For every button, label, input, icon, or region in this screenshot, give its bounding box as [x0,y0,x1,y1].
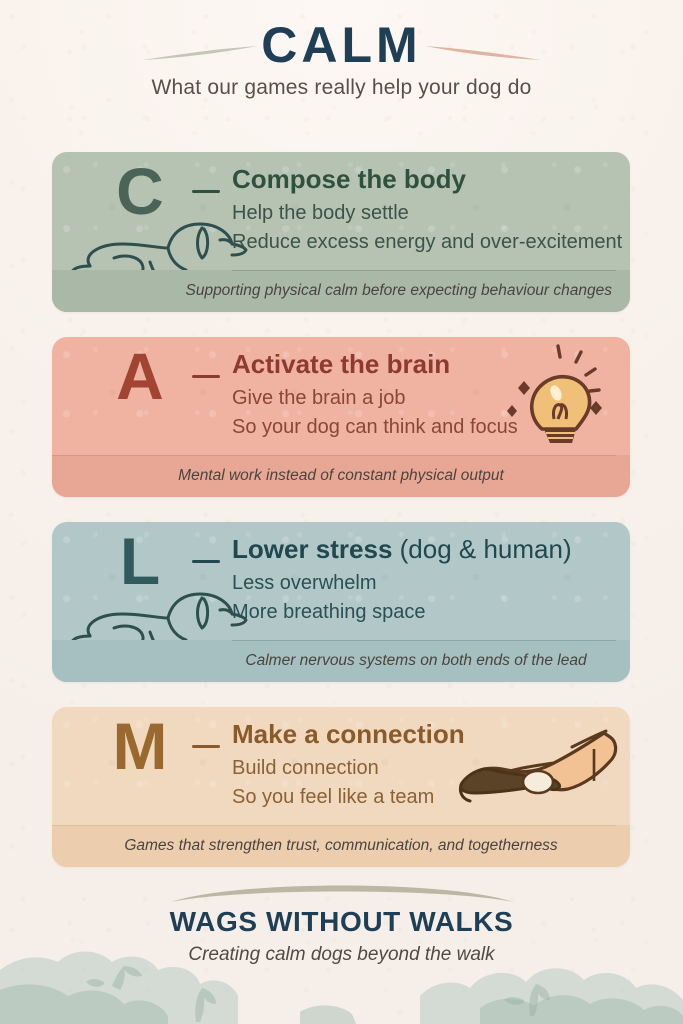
strip-divider [52,825,616,826]
letter-dash [192,375,220,378]
card-heading-main: Make a connection [232,719,465,749]
title-row: CALM [0,0,683,72]
card-letter: L [98,528,182,594]
card-body: M Make a connection Build connection So … [52,707,630,825]
infographic-page: CALM What our games really help your dog… [0,0,683,1024]
letter-dash [192,745,220,748]
page-title: CALM [0,20,683,70]
card-line-1: Give the brain a job [232,386,405,410]
brand-name: WAGS WITHOUT WALKS [0,906,683,938]
letter-dash [192,190,220,193]
brand-tagline: Creating calm dogs beyond the walk [0,944,683,966]
card-heading: Compose the body [232,164,466,194]
card-footnote: Mental work instead of constant physical… [52,466,630,486]
card-line-1: Help the body settle [232,201,409,225]
card-heading-main: Lower stress [232,534,392,564]
page-subtitle: What our games really help your dog do [0,76,683,100]
card-line-2: More breathing space [232,600,425,624]
card-line-1: Build connection [232,756,379,780]
strip-divider [52,455,616,456]
card-footnote-strip: Mental work instead of constant physical… [52,455,630,497]
card-line-2: So your dog can think and focus [232,415,518,439]
card-footnote: Calmer nervous systems on both ends of t… [52,651,630,671]
card-letter: M [98,713,182,779]
card-body: C Compose the body Help the body settle … [52,152,630,270]
hand-paw-icon [454,727,624,822]
card-activate: A Activate the brain Give the brain a jo… [52,337,630,497]
card-letter: A [98,343,182,409]
letter-dash [192,560,220,563]
card-heading: Make a connection [232,719,465,749]
card-make-connection: M Make a connection Build connection So … [52,707,630,867]
card-heading-main: Activate the brain [232,349,450,379]
sparkles [507,381,602,417]
card-body: L Lower stress (dog & human) Less overwh… [52,522,630,640]
card-body: A Activate the brain Give the brain a jo… [52,337,630,455]
header: CALM What our games really help your dog… [0,0,683,100]
footer: WAGS WITHOUT WALKS Creating calm dogs be… [0,878,683,966]
card-letter: C [98,158,182,224]
swoosh-right-icon [423,44,543,62]
card-footnote: Games that strengthen trust, communicati… [52,836,630,856]
card-footnote-strip: Games that strengthen trust, communicati… [52,825,630,867]
strip-divider [232,640,616,641]
card-footnote: Supporting physical calm before expectin… [52,281,630,301]
arc-divider-icon [167,878,517,904]
card-line-1: Less overwhelm [232,571,377,595]
card-lower-stress: L Lower stress (dog & human) Less overwh… [52,522,630,682]
card-heading-main: Compose the body [232,164,466,194]
card-footnote-strip: Calmer nervous systems on both ends of t… [52,640,630,682]
card-footnote-strip: Supporting physical calm before expectin… [52,270,630,312]
card-line-2: Reduce excess energy and over-excitement [232,230,622,254]
card-line-2: So you feel like a team [232,785,434,809]
card-heading-suffix: (dog & human) [400,534,572,564]
card-heading: Activate the brain [232,349,450,379]
strip-divider [232,270,616,271]
cards-list: C Compose the body Help the body settle … [52,152,630,892]
card-heading: Lower stress (dog & human) [232,534,572,564]
card-compose: C Compose the body Help the body settle … [52,152,630,312]
